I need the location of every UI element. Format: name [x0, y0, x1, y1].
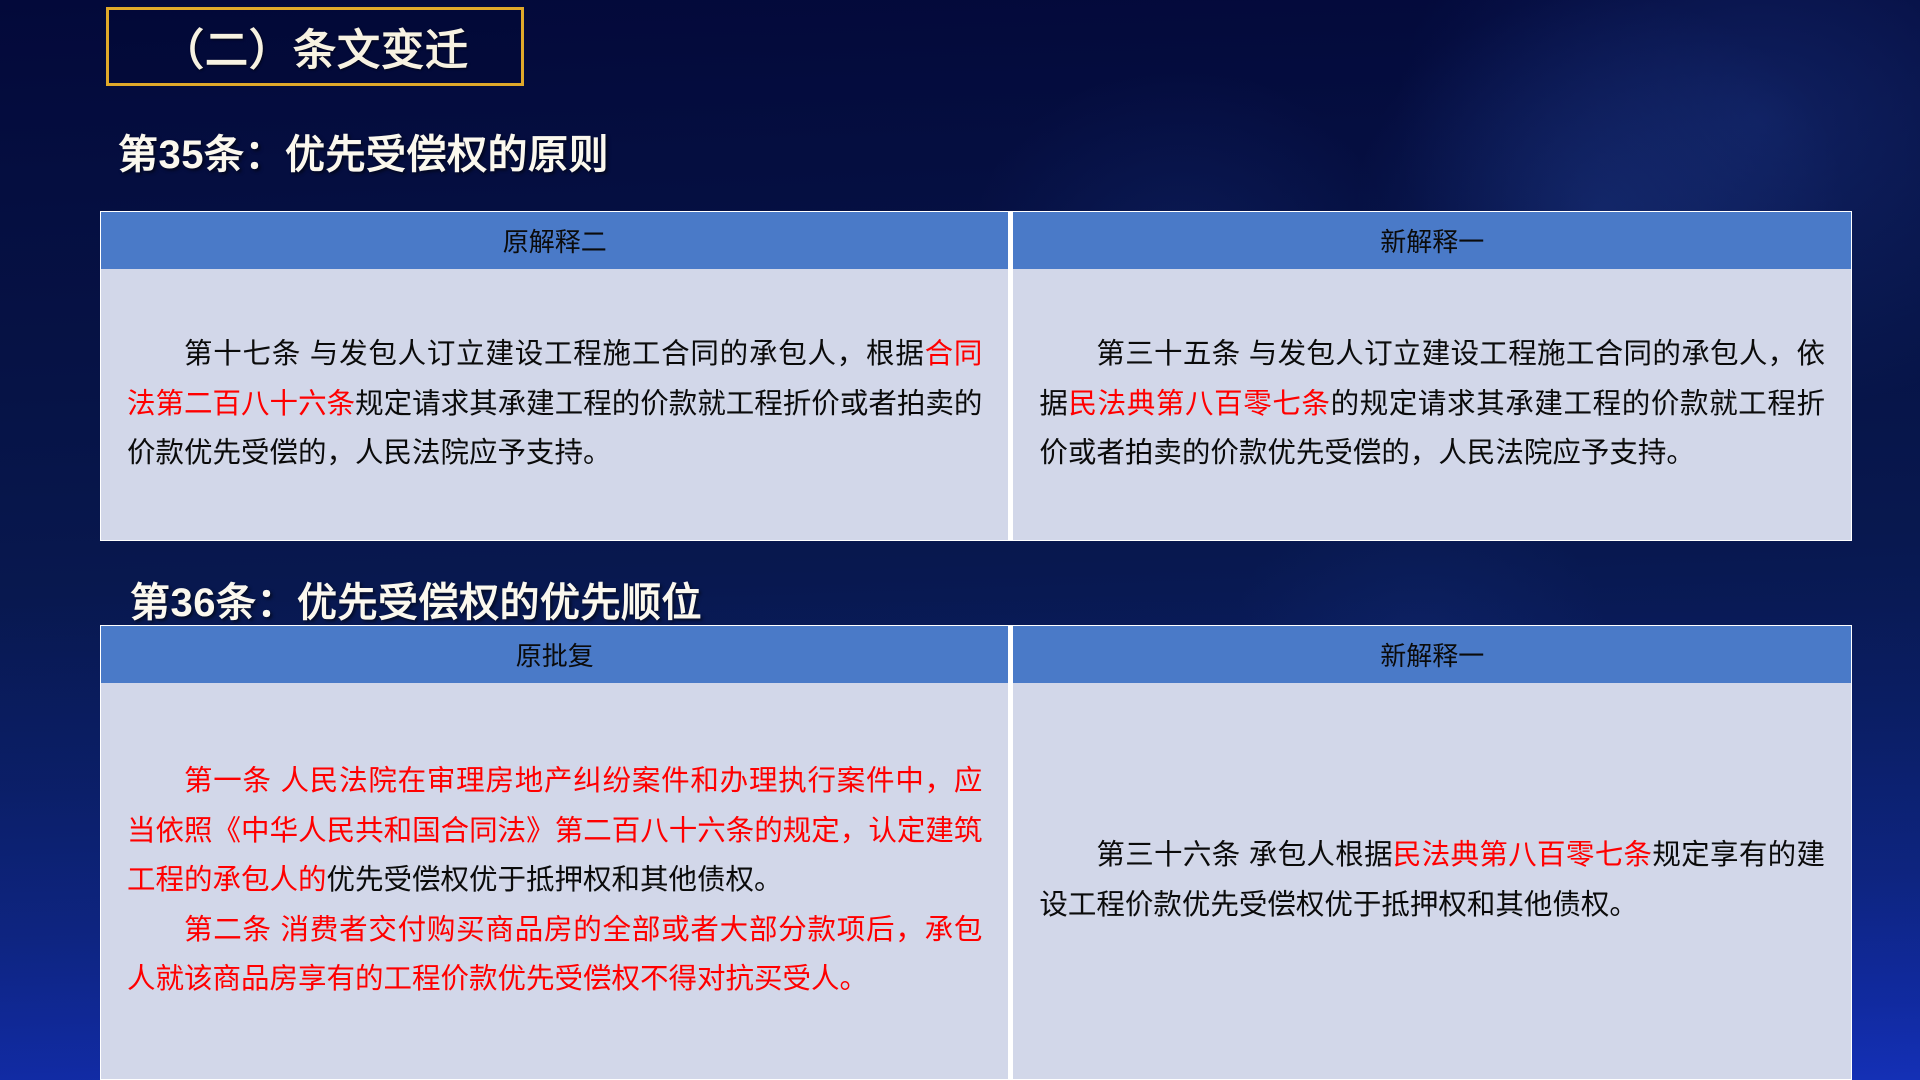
comparison-table-article-36: 原批复 新解释一 第一条 人民法院在审理房地产纠纷案件和办理执行案件中，应当依照…: [100, 625, 1852, 1080]
paragraph: 第二条 消费者交付购买商品房的全部或者大部分款项后，承包人就该商品房享有的工程价…: [127, 906, 982, 1005]
table-body-row: 第一条 人民法院在审理房地产纠纷案件和办理执行案件中，应当依照《中华人民共和国合…: [101, 683, 1851, 1079]
paragraph: 第三十六条 承包人根据民法典第八百零七条规定享有的建设工程价款优先受偿权优于抵押…: [1039, 831, 1825, 930]
highlighted-text-run: 民法典第八百零七条: [1069, 388, 1331, 420]
table-body-row: 第十七条 与发包人订立建设工程施工合同的承包人，根据合同法第二百八十六条规定请求…: [101, 269, 1851, 540]
text-run: 第三十六条 承包人根据: [1096, 839, 1393, 871]
section-heading-article-35: 第35条：优先受偿权的原则: [118, 122, 609, 180]
highlighted-text-run: 第二条 消费者交付购买商品房的全部或者大部分款项后，承包人就该商品房享有的工程价…: [127, 914, 982, 996]
paragraph: 第三十五条 与发包人订立建设工程施工合同的承包人，依据民法典第八百零七条的规定请…: [1039, 330, 1825, 479]
text-run: 第十七条 与发包人订立建设工程施工合同的承包人，根据: [184, 338, 925, 370]
section-heading-article-36: 第36条：优先受偿权的优先顺位: [130, 570, 702, 628]
table-cell-original-text: 第十七条 与发包人订立建设工程施工合同的承包人，根据合同法第二百八十六条规定请求…: [101, 269, 1008, 540]
table-header-cell-original: 原解释二: [101, 212, 1008, 269]
comparison-table-article-35: 原解释二 新解释一 第十七条 与发包人订立建设工程施工合同的承包人，根据合同法第…: [100, 211, 1852, 541]
paragraph: 第十七条 与发包人订立建设工程施工合同的承包人，根据合同法第二百八十六条规定请求…: [127, 330, 982, 479]
table-cell-new-text: 第三十五条 与发包人订立建设工程施工合同的承包人，依据民法典第八百零七条的规定请…: [1013, 269, 1851, 540]
slide-title-box: （二）条文变迁: [106, 7, 524, 86]
highlighted-text-run: 民法典第八百零七条: [1393, 839, 1652, 871]
table-cell-new-text: 第三十六条 承包人根据民法典第八百零七条规定享有的建设工程价款优先受偿权优于抵押…: [1013, 683, 1851, 1079]
table-header-row: 原解释二 新解释一: [101, 212, 1851, 269]
table-header-row: 原批复 新解释一: [101, 626, 1851, 683]
table-header-cell-original: 原批复: [101, 626, 1008, 683]
slide-title-text: （二）条文变迁: [161, 16, 469, 78]
paragraph: 第一条 人民法院在审理房地产纠纷案件和办理执行案件中，应当依照《中华人民共和国合…: [127, 757, 982, 906]
text-run: 优先受偿权优于抵押权和其他债权。: [327, 864, 783, 896]
table-header-cell-new: 新解释一: [1013, 626, 1851, 683]
table-header-cell-new: 新解释一: [1013, 212, 1851, 269]
table-cell-original-text: 第一条 人民法院在审理房地产纠纷案件和办理执行案件中，应当依照《中华人民共和国合…: [101, 683, 1008, 1079]
